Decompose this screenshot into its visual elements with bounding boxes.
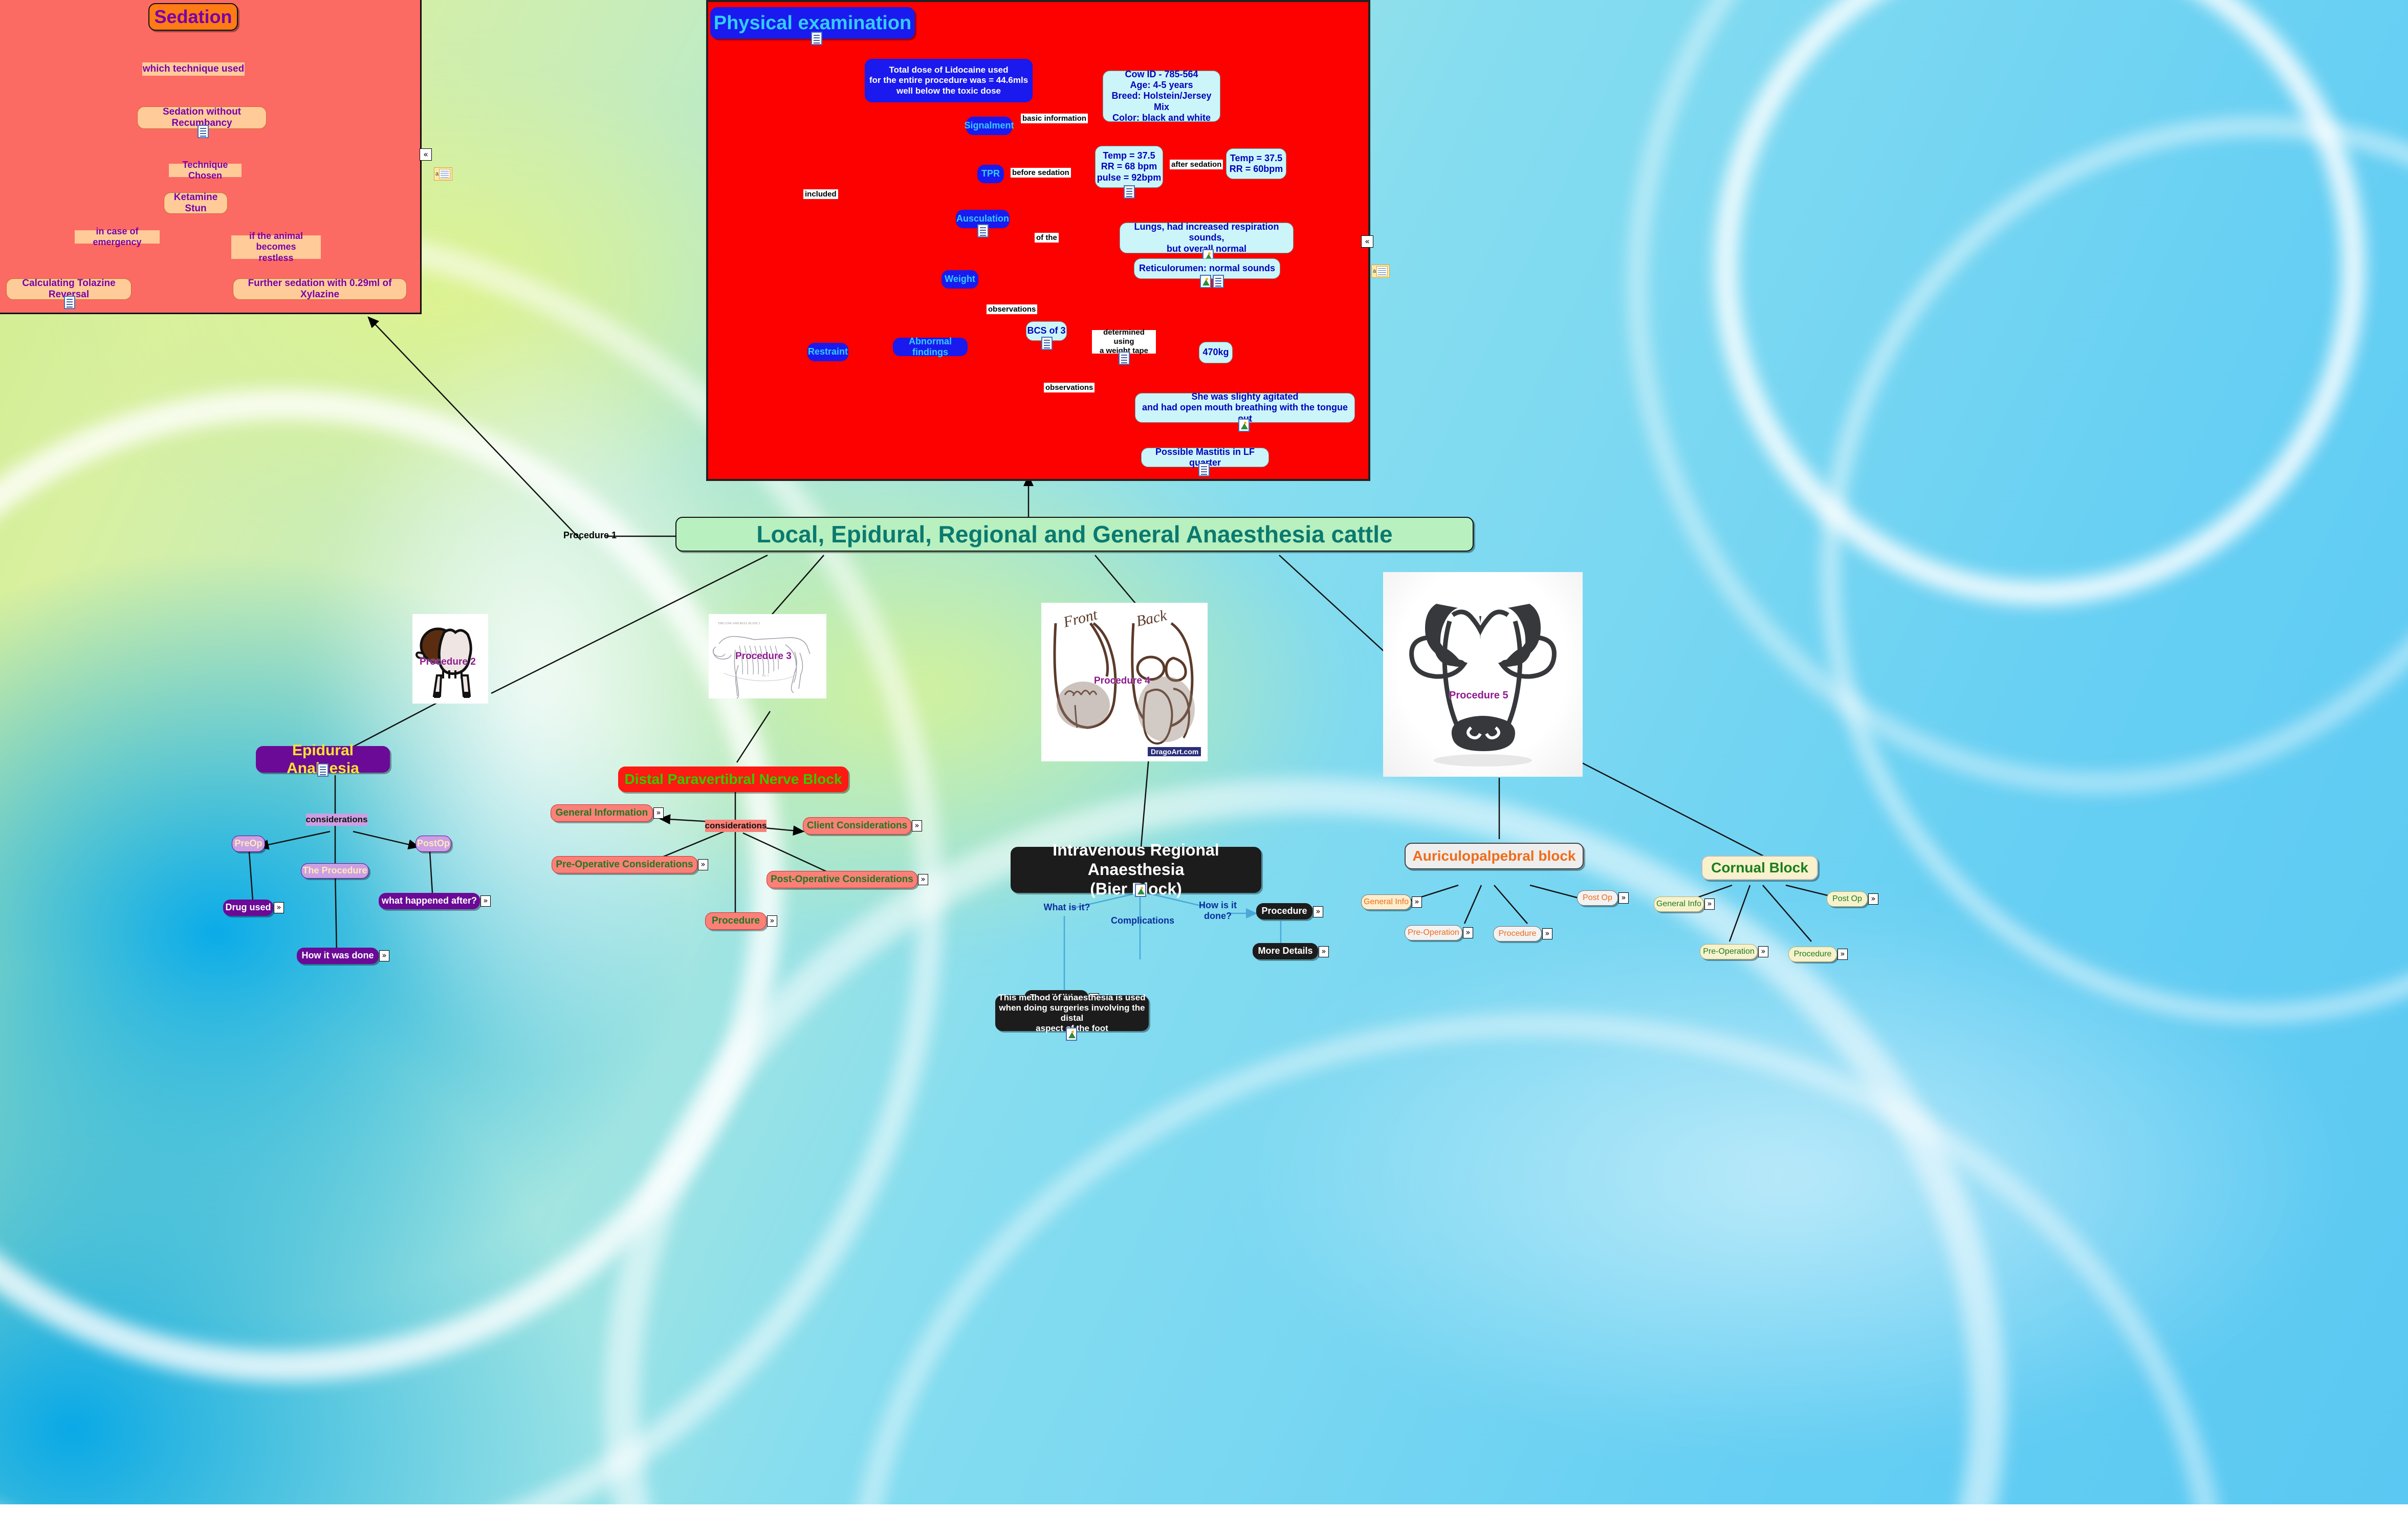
epidural-node-drug-used[interactable]: Drug used [223, 900, 273, 916]
note-icon[interactable] [1124, 185, 1135, 199]
epidural-edge-considerations: considerations [306, 814, 367, 826]
picture-icon[interactable] [1238, 419, 1250, 432]
paravertibral-node-general-information[interactable]: General Information [551, 804, 653, 822]
central-topic-label: Local, Epidural, Regional and General An… [756, 520, 1392, 548]
mindmap-canvas: Sedation which technique used Sedation w… [0, 0, 2408, 1533]
procedure-1-edge-label: Procedure 1 [562, 530, 618, 541]
edge-before-sedation: before sedation [1011, 168, 1071, 178]
edge-observations-1: observations [987, 304, 1037, 314]
collapse-icon[interactable]: « [420, 148, 432, 161]
note-lines [439, 169, 450, 179]
bier-edge-complications: Complications [1108, 915, 1177, 927]
note-icon[interactable] [811, 32, 822, 45]
note-icon[interactable] [64, 296, 75, 309]
sedation-title-label: Sedation [154, 6, 232, 28]
physexam-branch-abnormal-findings[interactable]: Abnormal findings [893, 338, 968, 356]
background-ring [849, 1013, 2227, 1504]
auriculopalpebral-node-procedure[interactable]: Procedure [1493, 926, 1542, 941]
paravertibral-node-post-operative[interactable]: Post-Operative Considerations [767, 871, 917, 888]
expand-icon[interactable]: » [1868, 893, 1878, 905]
paravertibral-node-client-considerations[interactable]: Client Considerations [803, 817, 911, 835]
paravertibral-title[interactable]: Distal Paravertibral Nerve Block [618, 766, 848, 792]
physexam-leaf-tpr-after[interactable]: Temp = 37.5 RR = 60bpm [1226, 148, 1286, 179]
expand-icon[interactable]: » [274, 902, 284, 913]
expand-icon[interactable]: » [918, 874, 928, 885]
edge-basic-information: basic information [1021, 114, 1088, 123]
sedation-edge-technique-chosen: Technique Chosen [169, 164, 242, 177]
edge-observations-2: observations [1044, 383, 1094, 392]
bier-node-description[interactable]: This method of anaesthesia is used when … [995, 995, 1149, 1031]
physexam-leaf-lungs[interactable]: Lungs, had increased respiration sounds,… [1120, 223, 1294, 253]
note-sticky-icon[interactable]: a [434, 167, 452, 181]
cornual-node-pre-operation[interactable]: Pre-Operation [1700, 944, 1758, 959]
expand-icon[interactable]: » [1758, 946, 1768, 957]
epidural-node-postop[interactable]: PostOp [415, 836, 451, 852]
note-sticky-icon[interactable]: a [1371, 265, 1390, 278]
cornual-node-procedure[interactable]: Procedure [1788, 947, 1837, 962]
expand-icon[interactable]: » [1542, 928, 1552, 939]
background-ring [1822, 118, 2408, 1022]
physexam-title-label: Physical examination [714, 12, 912, 35]
physexam-hub-label: included [803, 189, 838, 199]
sedation-edge-restless: if the animal becomes restless [231, 235, 321, 259]
bier-node-more-details[interactable]: More Details [1253, 943, 1318, 959]
auriculopalpebral-node-post-op[interactable]: Post Op [1577, 890, 1618, 906]
bier-edge-what-is-it: What is it? [1039, 902, 1095, 914]
edge-determined-using-weight-tape: determined using a weight tape [1092, 330, 1156, 354]
physexam-leaf-weight-value[interactable]: 470kg [1199, 342, 1233, 363]
svg-text:THE COW AND BULL PLATE 3: THE COW AND BULL PLATE 3 [718, 622, 760, 625]
paravertibral-edge-considerations: considerations [705, 820, 767, 832]
background-ring [1714, 0, 2365, 605]
expand-icon[interactable]: » [1412, 896, 1422, 908]
expand-icon[interactable]: » [1618, 892, 1629, 904]
sedation-title[interactable]: Sedation [148, 3, 238, 31]
expand-icon[interactable]: » [1704, 899, 1715, 910]
physexam-leaf-tpr-before[interactable]: Temp = 37.5 RR = 68 bpm pulse = 92bpm [1095, 146, 1163, 188]
note-icon[interactable] [1119, 352, 1130, 365]
procedure-4-label: Procedure 4 [1094, 675, 1150, 687]
expand-icon[interactable]: » [1313, 906, 1323, 917]
sedation-panel[interactable] [0, 0, 422, 314]
expand-icon[interactable]: » [912, 820, 922, 831]
paravertibral-node-procedure[interactable]: Procedure [705, 912, 767, 930]
picture-icon[interactable] [1200, 275, 1211, 288]
expand-icon[interactable]: » [653, 807, 664, 819]
procedure-2-label: Procedure 2 [420, 656, 476, 668]
epidural-node-preop[interactable]: PreOp [232, 836, 265, 852]
background-ring [0, 389, 783, 1382]
bottom-white-strip [0, 1504, 2408, 1533]
epidural-node-what-happened-after[interactable]: what happened after? [379, 893, 480, 909]
note-icon[interactable] [317, 763, 329, 777]
paravertibral-node-pre-operative[interactable]: Pre-Operative Considerations [552, 856, 697, 873]
procedure-3-label: Procedure 3 [735, 651, 792, 662]
sedation-edge-emergency: in case of emergency [75, 230, 160, 244]
epidural-node-the-procedure[interactable]: The Procedure [301, 863, 369, 879]
cornual-node-post-op[interactable]: Post Op [1827, 891, 1868, 907]
note-icon[interactable] [977, 224, 989, 237]
svg-text:FIG. 3: FIG. 3 [762, 675, 769, 677]
expand-icon[interactable]: » [1319, 946, 1329, 957]
expand-icon[interactable]: » [1837, 949, 1848, 960]
expand-icon[interactable]: » [1463, 927, 1473, 938]
edge-of-the: of the [1035, 233, 1059, 243]
bier-node-procedure[interactable]: Procedure [1256, 903, 1312, 919]
physexam-branch-restraint[interactable]: Restraint [807, 343, 848, 361]
epidural-node-how-it-was-done[interactable]: How it was done [297, 948, 379, 964]
auriculopalpebral-title[interactable]: Auriculopalpebral block [1405, 843, 1584, 869]
central-topic[interactable]: Local, Epidural, Regional and General An… [675, 517, 1474, 552]
expand-icon[interactable]: » [767, 915, 777, 927]
edge-after-sedation: after sedation [1170, 160, 1223, 169]
note-lines [1376, 266, 1388, 276]
note-icon[interactable] [1198, 463, 1210, 476]
svg-text:DragoArt.com: DragoArt.com [1151, 748, 1198, 756]
cow-head-illustration [1383, 572, 1583, 777]
expand-icon[interactable]: » [480, 895, 491, 907]
note-icon[interactable] [1041, 337, 1053, 350]
background-ring [1627, 0, 2408, 793]
picture-icon[interactable] [1066, 1027, 1077, 1041]
physexam-lidocaine-note[interactable]: Total dose of Lidocaine used for the ent… [865, 59, 1033, 102]
cornual-node-general-info[interactable]: General Info [1654, 896, 1704, 912]
expand-icon[interactable]: » [698, 859, 708, 870]
bier-edge-how-is-it-done: How is it done? [1190, 900, 1246, 922]
cornual-title[interactable]: Cornual Block [1701, 856, 1818, 880]
physexam-branch-signalment[interactable]: Signalment [966, 117, 1012, 135]
collapse-icon[interactable]: « [1361, 235, 1373, 248]
procedure-5-image[interactable] [1383, 572, 1583, 777]
background-blob [1228, 895, 2354, 1458]
expand-icon[interactable]: » [379, 950, 389, 961]
edge-label: which technique used [143, 63, 244, 75]
auriculopalpebral-node-general-info[interactable]: General Info [1361, 894, 1411, 910]
sedation-node-further-sedation[interactable]: Further sedation with 0.29ml of Xylazine [233, 278, 407, 300]
note-icon[interactable] [198, 125, 209, 138]
picture-icon[interactable] [1135, 884, 1146, 897]
note-icon[interactable] [1213, 275, 1224, 288]
physexam-branch-tpr[interactable]: TPR [977, 165, 1004, 183]
physexam-branch-weight[interactable]: Weight [942, 270, 978, 289]
physexam-leaf-cow-info[interactable]: Cow ID - 785-564 Age: 4-5 years Breed: H… [1103, 71, 1220, 122]
sedation-node-ketamine-stun[interactable]: Ketamine Stun [164, 192, 228, 214]
procedure-5-label: Procedure 5 [1449, 690, 1508, 702]
sedation-edge-which-technique: which technique used [142, 62, 245, 76]
auriculopalpebral-node-pre-operation[interactable]: Pre-Operation [1405, 925, 1462, 940]
